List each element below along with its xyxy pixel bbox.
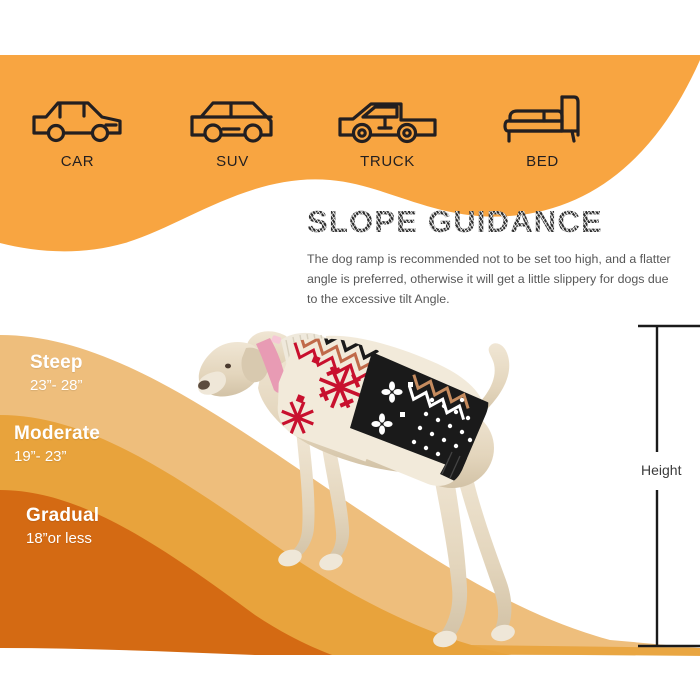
slope-tier-steep: Steep <box>30 353 83 374</box>
slope-label-moderate: Moderate 19”- 23” <box>14 424 100 467</box>
ramp-illustration <box>0 0 700 700</box>
height-dimension-label: Height <box>641 462 681 478</box>
slope-label-gradual: Gradual 18”or less <box>26 506 99 549</box>
slope-tier-gradual: Gradual <box>26 506 99 527</box>
slope-label-steep: Steep 23”- 28” <box>30 353 83 396</box>
slope-range-steep: 23”- 28” <box>30 376 83 396</box>
infographic-canvas: CAR SUV <box>0 0 700 700</box>
slope-tier-moderate: Moderate <box>14 424 100 445</box>
slope-range-gradual: 18”or less <box>26 529 99 549</box>
slope-range-moderate: 19”- 23” <box>14 447 100 467</box>
height-dimension <box>638 326 700 646</box>
